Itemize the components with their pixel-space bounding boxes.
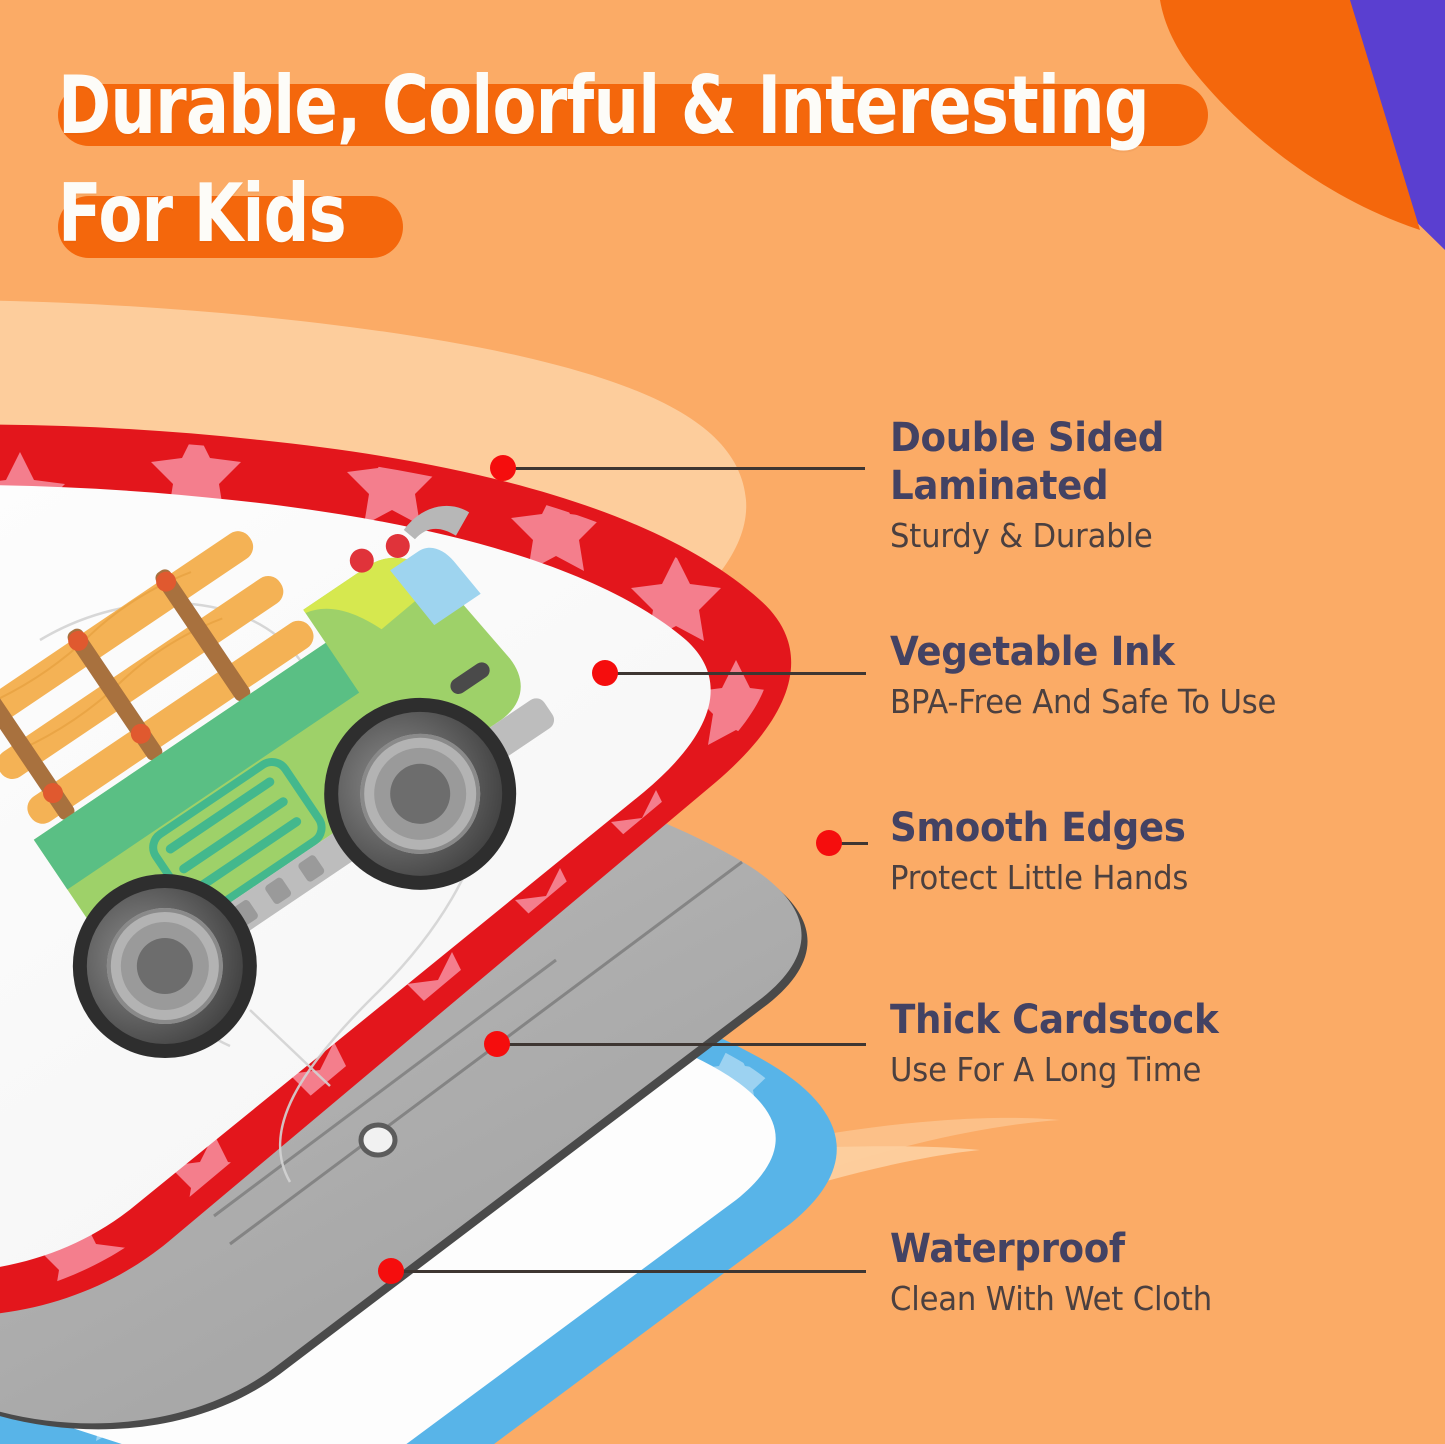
- infographic-canvas: Durable, Colorful & Interesting For Kids…: [0, 0, 1445, 1444]
- feature-title-double-sided-laminated: Double Sided Laminated: [890, 414, 1225, 510]
- feature-subtitle-thick-cardstock: Use For A Long Time: [890, 1050, 1327, 1090]
- feature-subtitle-double-sided-laminated: Sturdy & Durable: [890, 516, 1327, 556]
- title-text-2: For Kids: [58, 170, 346, 258]
- connector-line-waterproof: [402, 1270, 866, 1273]
- connector-dot-waterproof: [378, 1258, 404, 1284]
- feature-thick-cardstock: Thick Cardstock Use For A Long Time: [890, 996, 1360, 1090]
- feature-subtitle-smooth-edges: Protect Little Hands: [890, 858, 1327, 898]
- feature-vegetable-ink: Vegetable Ink BPA-Free And Safe To Use: [890, 628, 1360, 722]
- connector-line-double-sided-laminated: [515, 467, 865, 470]
- connector-dot-double-sided-laminated: [490, 455, 516, 481]
- feature-title-thick-cardstock: Thick Cardstock: [890, 996, 1327, 1044]
- connector-dot-vegetable-ink: [592, 660, 618, 686]
- connector-line-vegetable-ink: [617, 672, 866, 675]
- feature-title-waterproof: Waterproof: [890, 1225, 1327, 1273]
- connector-dot-smooth-edges: [816, 830, 842, 856]
- feature-subtitle-waterproof: Clean With Wet Cloth: [890, 1279, 1327, 1319]
- feature-waterproof: Waterproof Clean With Wet Cloth: [890, 1225, 1360, 1319]
- connector-line-thick-cardstock: [508, 1043, 866, 1046]
- feature-double-sided-laminated: Double Sided Laminated Sturdy & Durable: [890, 414, 1360, 556]
- connector-line-smooth-edges: [840, 842, 868, 845]
- feature-title-vegetable-ink: Vegetable Ink: [890, 628, 1327, 676]
- connector-dot-thick-cardstock: [484, 1031, 510, 1057]
- feature-list: Double Sided Laminated Sturdy & Durable …: [890, 0, 1360, 1444]
- feature-smooth-edges: Smooth Edges Protect Little Hands: [890, 804, 1360, 898]
- feature-title-smooth-edges: Smooth Edges: [890, 804, 1327, 852]
- feature-subtitle-vegetable-ink: BPA-Free And Safe To Use: [890, 682, 1327, 722]
